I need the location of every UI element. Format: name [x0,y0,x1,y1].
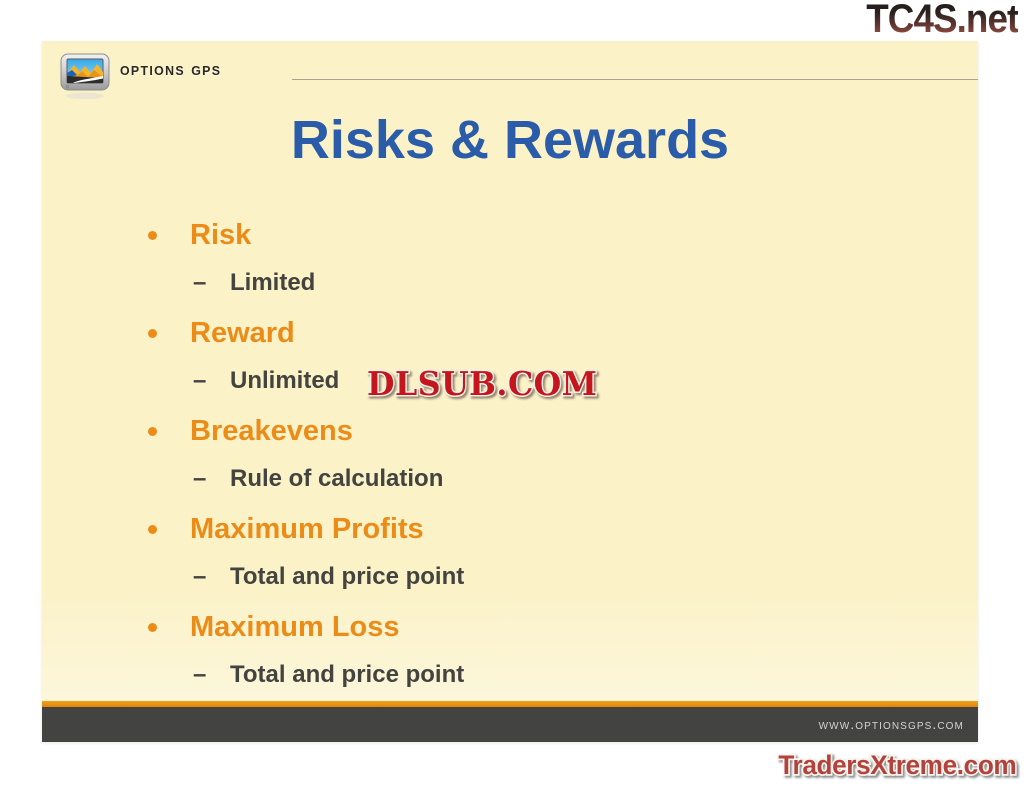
bullet-level2-total-and-price-point-profits: – Total and price point [92,553,958,600]
bullet-dot-icon [148,231,157,240]
bullet-level1-label: Risk [190,219,251,251]
bullet-dot-icon [148,525,157,534]
bullet-level1-breakevens: Breakevens [92,407,958,455]
bullet-dash-icon: – [193,357,206,404]
bullet-level2-label: Unlimited [230,367,339,394]
gps-device-icon [58,51,114,99]
bullet-level1-maximum-loss: Maximum Loss [92,603,958,651]
bullet-dash-icon: – [193,455,206,502]
bullet-dash-icon: – [193,651,206,698]
bullet-level2-total-and-price-point-loss: – Total and price point [92,651,958,698]
dlsub-site-watermark: DLSUB.COM [367,364,597,403]
header-divider-rule [292,79,978,80]
presentation-slide: Options GPS Risks & Rewards Risk – Limit… [42,41,978,742]
bullet-dash-icon: – [193,553,206,600]
bullet-level1-risk: Risk [92,211,958,259]
slide-header: Options GPS [42,41,978,103]
bullet-level1-label: Reward [190,317,295,349]
bullet-dot-icon [148,623,157,632]
bullet-level1-label: Breakevens [190,415,353,447]
bullet-list: Risk – Limited Reward – Unlimited Breake… [92,211,958,701]
bullet-level2-rule-of-calculation: – Rule of calculation [92,455,958,502]
bullet-level2-label: Limited [230,269,315,296]
bullet-level1-label: Maximum Loss [190,611,400,643]
tradersxtreme-site-watermark: TradersXtreme.com [778,750,1016,781]
bullet-level1-maximum-profits: Maximum Profits [92,505,958,553]
bullet-level2-label: Total and price point [230,563,464,590]
bullet-group: Maximum Profits – Total and price point [92,505,958,600]
bullet-level1-label: Maximum Profits [190,513,424,545]
slide-footer: www.OptionsGPS.com [42,707,978,742]
bullet-level2-label: Total and price point [230,661,464,688]
page-title: Risks & Rewards [42,109,978,171]
bullet-level1-reward: Reward [92,309,958,357]
options-gps-logo-label: Options GPS [120,59,221,81]
tc4s-site-watermark: TC4S.net [866,0,1018,40]
bullet-group: Breakevens – Rule of calculation [92,407,958,502]
footer-website-url: www.OptionsGPS.com [819,716,964,732]
bullet-dash-icon: – [193,259,206,306]
bullet-dot-icon [148,329,157,338]
bullet-group: Risk – Limited [92,211,958,306]
bullet-group: Maximum Loss – Total and price point [92,603,958,698]
bullet-level2-label: Rule of calculation [230,465,443,492]
bullet-dot-icon [148,427,157,436]
bullet-level2-limited: – Limited [92,259,958,306]
